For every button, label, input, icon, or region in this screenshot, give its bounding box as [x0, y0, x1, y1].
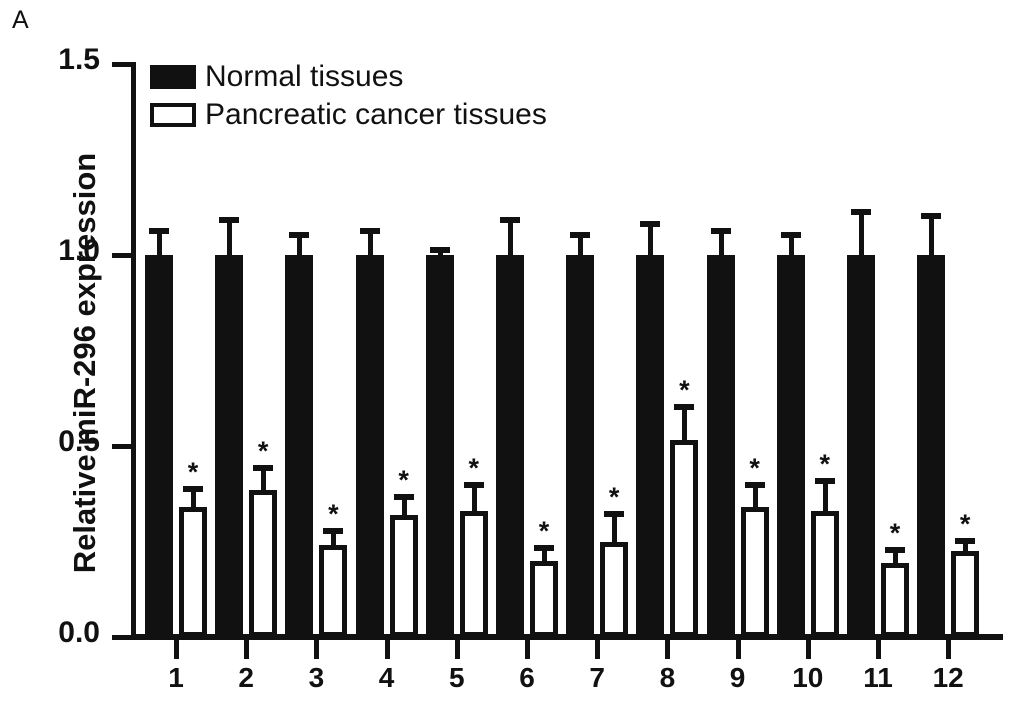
bar-normal-5	[426, 255, 454, 637]
y-tick-label-1.0: 1.0	[16, 234, 100, 268]
x-tick-8	[665, 640, 670, 659]
bar-normal-3	[285, 255, 313, 637]
error-bar-cap-normal-5	[430, 247, 450, 253]
error-bar-cap-tumor-10	[815, 478, 835, 484]
x-tick-9	[736, 640, 741, 659]
error-bar-cap-normal-6	[500, 217, 520, 223]
bar-tumor-10	[811, 511, 839, 637]
x-tick-label-1: 1	[146, 662, 206, 694]
x-tick-4	[385, 640, 390, 659]
bar-normal-7	[566, 255, 594, 637]
x-tick-label-5: 5	[427, 662, 487, 694]
bar-tumor-4	[390, 515, 418, 637]
x-tick-11	[876, 640, 881, 659]
bar-tumor-8	[670, 440, 698, 637]
x-tick-3	[314, 640, 319, 659]
bar-tumor-3	[319, 545, 347, 637]
x-tick-label-11: 11	[848, 662, 908, 694]
y-tick-1.5	[112, 62, 132, 67]
significance-star-1: *	[178, 459, 208, 486]
error-bar-line-normal-12	[929, 213, 934, 259]
error-bar-cap-normal-1	[149, 228, 169, 234]
significance-star-9: *	[740, 455, 770, 482]
bar-tumor-7	[600, 542, 628, 638]
bar-tumor-2	[249, 490, 277, 637]
error-bar-cap-tumor-3	[323, 528, 343, 534]
error-bar-cap-tumor-1	[183, 486, 203, 492]
significance-star-4: *	[389, 467, 419, 494]
x-tick-12	[946, 640, 951, 659]
significance-star-8: *	[669, 377, 699, 404]
error-bar-cap-tumor-6	[534, 545, 554, 551]
error-bar-cap-tumor-9	[745, 482, 765, 488]
error-bar-cap-normal-9	[711, 228, 731, 234]
y-tick-1.0	[112, 253, 132, 258]
bar-normal-12	[917, 255, 945, 637]
significance-star-3: *	[318, 501, 348, 528]
bar-normal-1	[145, 255, 173, 637]
legend-label-normal: Normal tissues	[205, 62, 403, 92]
bar-tumor-6	[530, 561, 558, 637]
x-tick-label-6: 6	[497, 662, 557, 694]
error-bar-line-normal-6	[508, 217, 513, 259]
x-tick-7	[595, 640, 600, 659]
error-bar-cap-normal-10	[781, 232, 801, 238]
y-tick-label-0.5: 0.5	[16, 425, 100, 459]
significance-star-12: *	[950, 511, 980, 538]
x-tick-6	[525, 640, 530, 659]
legend-item-normal: Normal tissues	[150, 58, 547, 96]
chart-legend: Normal tissues Pancreatic cancer tissues	[150, 58, 547, 134]
error-bar-line-tumor-8	[682, 404, 687, 444]
bar-tumor-11	[881, 563, 909, 637]
x-tick-label-9: 9	[708, 662, 768, 694]
x-tick-10	[806, 640, 811, 659]
x-tick-2	[244, 640, 249, 659]
error-bar-cap-normal-8	[640, 221, 660, 227]
error-bar-cap-normal-3	[289, 232, 309, 238]
x-tick-label-10: 10	[778, 662, 838, 694]
figure-panel-a: A Relative miR-296 expression 0.00.51.01…	[0, 0, 1020, 714]
open-square-icon	[150, 103, 196, 127]
x-tick-label-12: 12	[918, 662, 978, 694]
legend-item-tumor: Pancreatic cancer tissues	[150, 96, 547, 134]
error-bar-cap-normal-4	[360, 228, 380, 234]
y-tick-label-0.0: 0.0	[16, 616, 100, 650]
y-tick-0.5	[112, 444, 132, 449]
x-tick-5	[455, 640, 460, 659]
x-tick-1	[174, 640, 179, 659]
significance-star-10: *	[810, 451, 840, 478]
x-tick-label-3: 3	[286, 662, 346, 694]
bar-tumor-9	[741, 507, 769, 637]
error-bar-cap-normal-7	[570, 232, 590, 238]
filled-square-icon	[150, 65, 196, 89]
x-tick-label-2: 2	[216, 662, 276, 694]
error-bar-line-normal-11	[859, 209, 864, 259]
significance-star-6: *	[529, 518, 559, 545]
x-tick-label-8: 8	[637, 662, 697, 694]
bar-normal-4	[356, 255, 384, 637]
error-bar-cap-normal-11	[851, 209, 871, 215]
significance-star-11: *	[880, 520, 910, 547]
bar-normal-9	[707, 255, 735, 637]
bar-tumor-1	[179, 507, 207, 637]
y-tick-label-1.5: 1.5	[16, 43, 100, 77]
significance-star-7: *	[599, 484, 629, 511]
bar-normal-11	[847, 255, 875, 637]
bar-tumor-5	[460, 511, 488, 637]
y-axis-line	[131, 62, 136, 640]
error-bar-cap-normal-12	[921, 213, 941, 219]
panel-label: A	[12, 6, 29, 35]
bar-normal-8	[636, 255, 664, 637]
bar-normal-6	[496, 255, 524, 637]
significance-star-5: *	[459, 455, 489, 482]
error-bar-cap-normal-2	[219, 217, 239, 223]
x-tick-label-4: 4	[357, 662, 417, 694]
y-tick-0.0	[112, 635, 132, 640]
bar-normal-10	[777, 255, 805, 637]
bar-normal-2	[215, 255, 243, 637]
significance-star-2: *	[248, 438, 278, 465]
x-tick-label-7: 7	[567, 662, 627, 694]
error-bar-cap-tumor-5	[464, 482, 484, 488]
error-bar-cap-tumor-11	[885, 547, 905, 553]
y-axis-title: Relative miR-296 expression	[67, 73, 103, 653]
bar-tumor-12	[951, 551, 979, 637]
error-bar-line-normal-2	[227, 217, 232, 259]
legend-label-tumor: Pancreatic cancer tissues	[205, 100, 547, 130]
